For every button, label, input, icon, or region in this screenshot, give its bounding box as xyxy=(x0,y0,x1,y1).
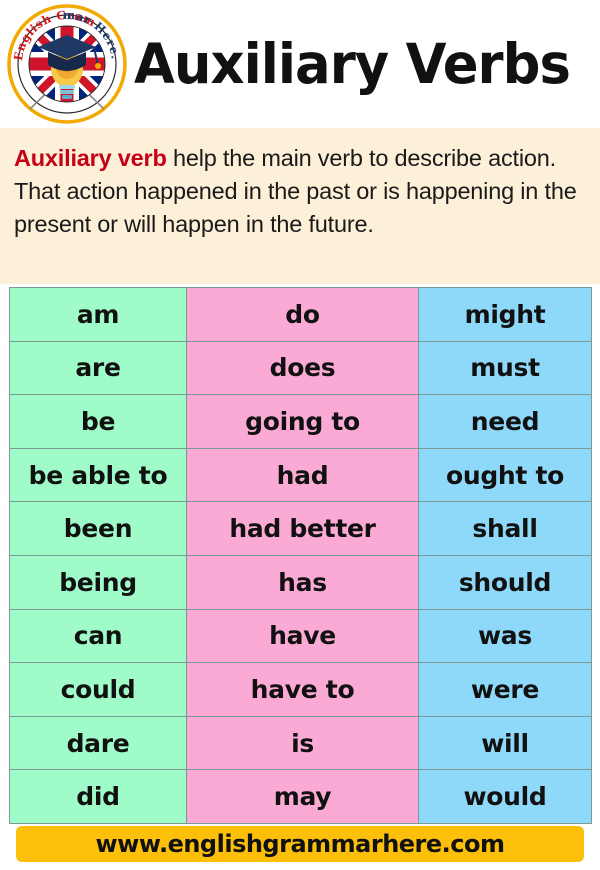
auxiliary-verbs-table: am do might are does must be going to ne… xyxy=(9,287,592,824)
table-row: am do might xyxy=(10,288,592,342)
verb-cell: being xyxy=(10,555,187,609)
verb-cell: may xyxy=(187,770,419,824)
description-block: Auxiliary verb help the main verb to des… xyxy=(0,128,600,284)
verb-cell: need xyxy=(419,395,592,449)
verb-cell: could xyxy=(10,663,187,717)
website-banner[interactable]: www.englishgrammarhere.com xyxy=(16,826,584,862)
table-row: did may would xyxy=(10,770,592,824)
table-body: am do might are does must be going to ne… xyxy=(10,288,592,824)
verb-cell: must xyxy=(419,341,592,395)
verb-cell: did xyxy=(10,770,187,824)
verb-cell: shall xyxy=(419,502,592,556)
verb-cell: be xyxy=(10,395,187,449)
verb-cell: will xyxy=(419,716,592,770)
verb-cell: dare xyxy=(10,716,187,770)
verb-cell: be able to xyxy=(10,448,187,502)
verb-cell: had better xyxy=(187,502,419,556)
table-row: be going to need xyxy=(10,395,592,449)
verb-cell: had xyxy=(187,448,419,502)
table-row: dare is will xyxy=(10,716,592,770)
verb-cell: might xyxy=(419,288,592,342)
verb-cell: were xyxy=(419,663,592,717)
page-title: Auxiliary Verbs xyxy=(134,37,581,92)
verb-cell: going to xyxy=(187,395,419,449)
table-row: being has should xyxy=(10,555,592,609)
table-row: are does must xyxy=(10,341,592,395)
verb-cell: would xyxy=(419,770,592,824)
verb-cell: been xyxy=(10,502,187,556)
verb-cell: have to xyxy=(187,663,419,717)
website-url: www.englishgrammarhere.com xyxy=(95,830,504,858)
verb-cell: is xyxy=(187,716,419,770)
verb-cell: have xyxy=(187,609,419,663)
table-row: can have was xyxy=(10,609,592,663)
verb-cell: do xyxy=(187,288,419,342)
poster-page: English Gram mar Here.Com Auxiliary Verb… xyxy=(0,0,600,870)
table-row: be able to had ought to xyxy=(10,448,592,502)
description-keyword: Auxiliary verb xyxy=(14,145,167,171)
verb-cell: can xyxy=(10,609,187,663)
verb-cell: was xyxy=(419,609,592,663)
verb-cell: has xyxy=(187,555,419,609)
verb-cell: does xyxy=(187,341,419,395)
verb-cell: am xyxy=(10,288,187,342)
verb-cell: should xyxy=(419,555,592,609)
verb-cell: ought to xyxy=(419,448,592,502)
english-grammar-here-badge-icon: English Gram mar Here.Com xyxy=(6,3,128,125)
table-row: been had better shall xyxy=(10,502,592,556)
table-row: could have to were xyxy=(10,663,592,717)
header: English Gram mar Here.Com Auxiliary Verb… xyxy=(0,0,600,128)
verb-cell: are xyxy=(10,341,187,395)
